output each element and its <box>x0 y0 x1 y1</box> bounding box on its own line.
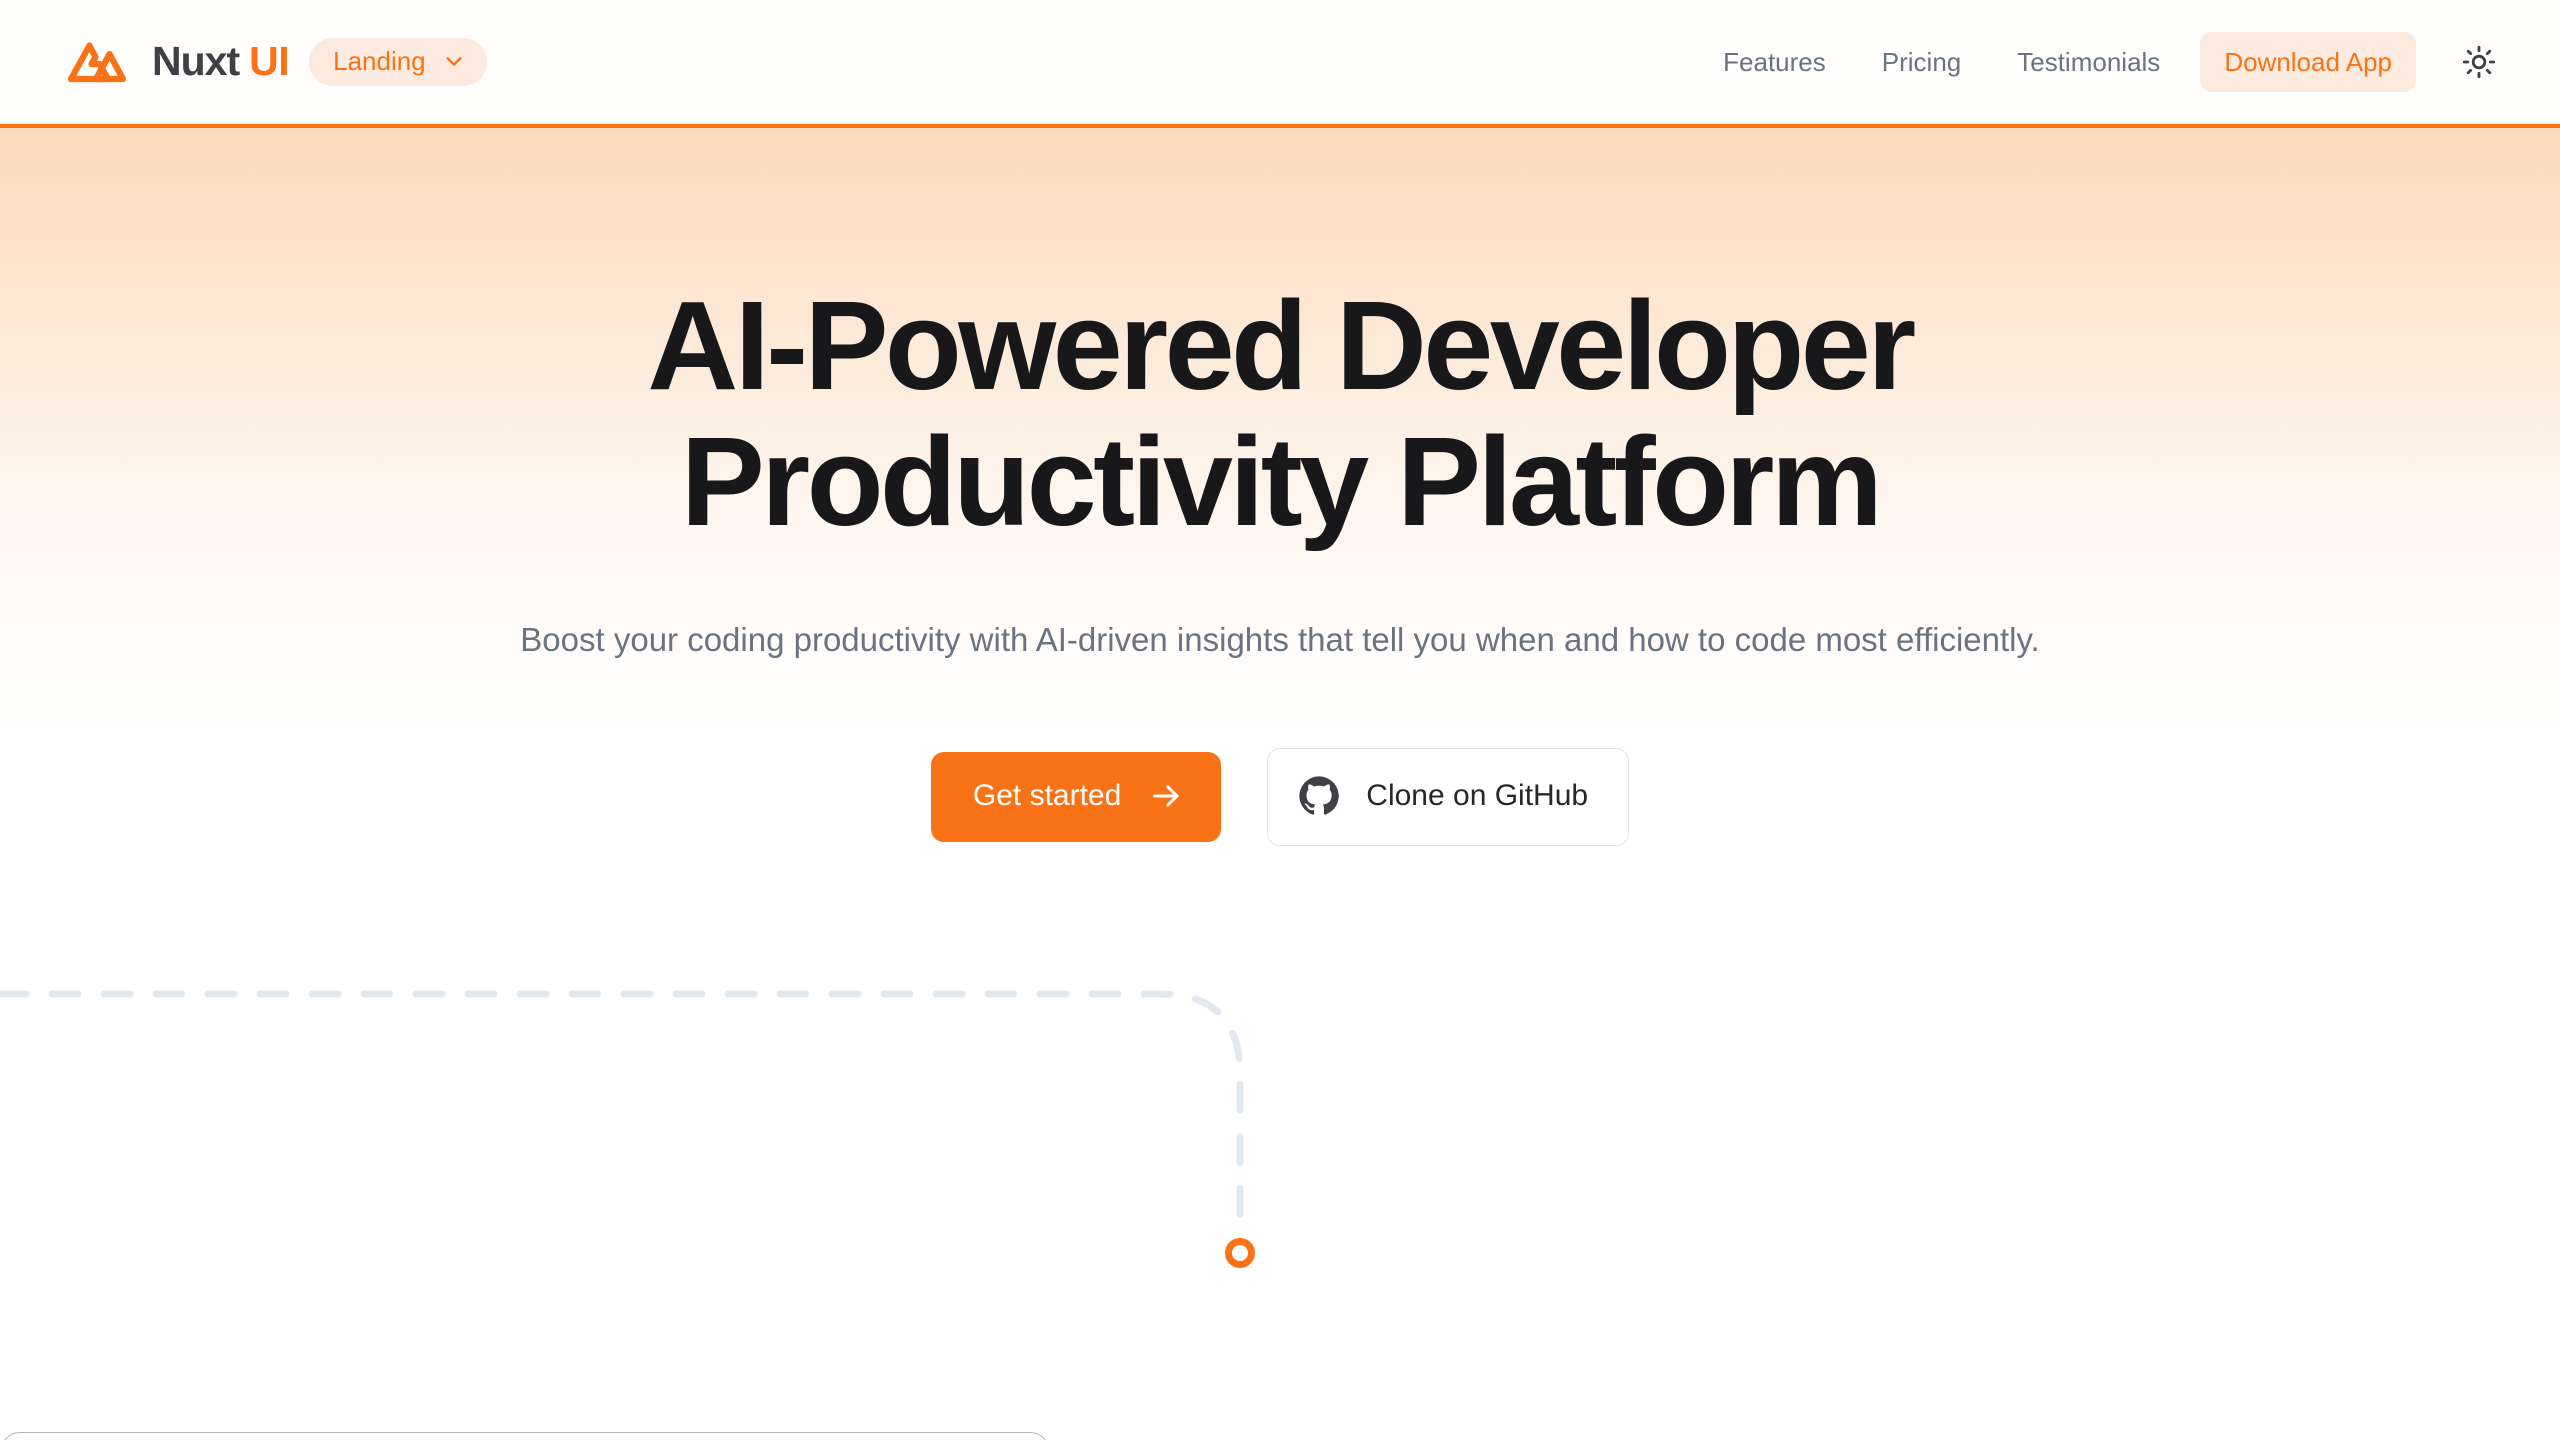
brand-wordmark: Nuxt UI <box>152 41 289 82</box>
header-accent-line <box>0 124 2560 128</box>
page-selector-dropdown[interactable]: Landing <box>309 38 487 86</box>
get-started-button[interactable]: Get started <box>931 752 1221 842</box>
site-header: Nuxt UI Landing Features Pricing Testimo… <box>0 0 2560 124</box>
nav-link-testimonials[interactable]: Testimonials <box>1989 49 2188 75</box>
page-selector-label: Landing <box>333 48 426 74</box>
landing-page: Nuxt UI Landing Features Pricing Testimo… <box>0 0 2560 1440</box>
hero-section: AI-Powered Developer Productivity Platfo… <box>0 128 2560 846</box>
github-icon <box>1298 775 1340 817</box>
primary-navigation: Features Pricing Testimonials Download A… <box>1695 32 2508 92</box>
hero-cta-group: Get started Clone on GitHub <box>931 748 1629 846</box>
dashed-line <box>0 994 1240 1232</box>
theme-toggle-button[interactable] <box>2456 39 2502 85</box>
get-started-label: Get started <box>973 781 1121 811</box>
hero-subtitle: Boost your coding productivity with AI-d… <box>520 616 2039 664</box>
arrow-right-icon <box>1149 779 1183 813</box>
bottom-preview-card <box>0 1432 1050 1440</box>
download-app-button[interactable]: Download App <box>2200 32 2416 92</box>
sun-icon <box>2462 45 2496 79</box>
brand-name-primary: Nuxt <box>152 41 239 82</box>
brand-logo-group[interactable]: Nuxt UI <box>62 39 289 85</box>
brand-name-accent: UI <box>249 41 289 82</box>
orange-ring-node <box>1229 1242 1252 1265</box>
hero-title: AI-Powered Developer Productivity Platfo… <box>430 278 2130 550</box>
clone-github-label: Clone on GitHub <box>1366 781 1588 811</box>
nav-link-pricing[interactable]: Pricing <box>1854 49 1989 75</box>
nuxt-mountain-logo-icon <box>62 39 130 85</box>
clone-on-github-button[interactable]: Clone on GitHub <box>1267 748 1629 846</box>
chevron-down-icon <box>443 50 465 72</box>
nav-link-features[interactable]: Features <box>1695 49 1854 75</box>
